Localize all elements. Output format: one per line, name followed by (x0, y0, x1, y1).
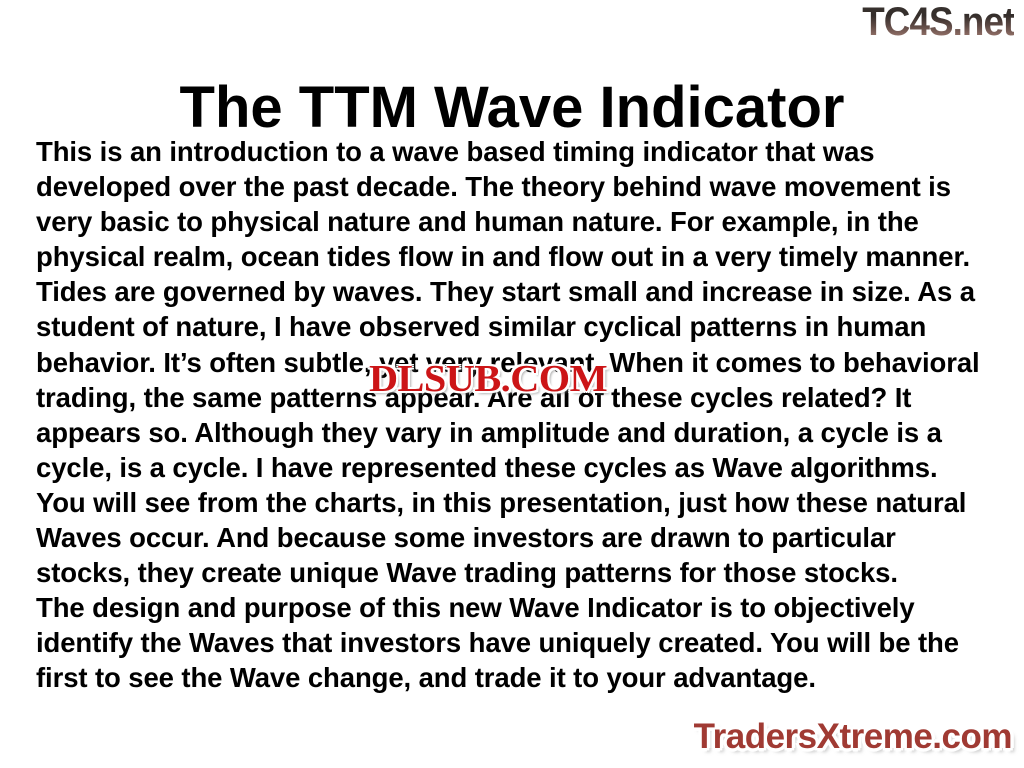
brand-logo-tc4s: TC4S.net (862, 2, 1014, 42)
body-text-block: This is an introduction to a wave based … (36, 134, 994, 696)
page-title: The TTM Wave Indicator (0, 75, 1024, 141)
brand-logo-tradersxtreme-fill: TradersXtreme.com (694, 717, 1012, 756)
brand-logo-tradersxtreme: TradersXtreme.com TradersXtreme.com (694, 718, 1012, 756)
slide-canvas: TC4S.net The TTM Wave Indicator This is … (0, 0, 1024, 768)
watermark-dlsub: DLSUB.COM (369, 359, 607, 399)
body-paragraph-2: The design and purpose of this new Wave … (36, 590, 994, 695)
